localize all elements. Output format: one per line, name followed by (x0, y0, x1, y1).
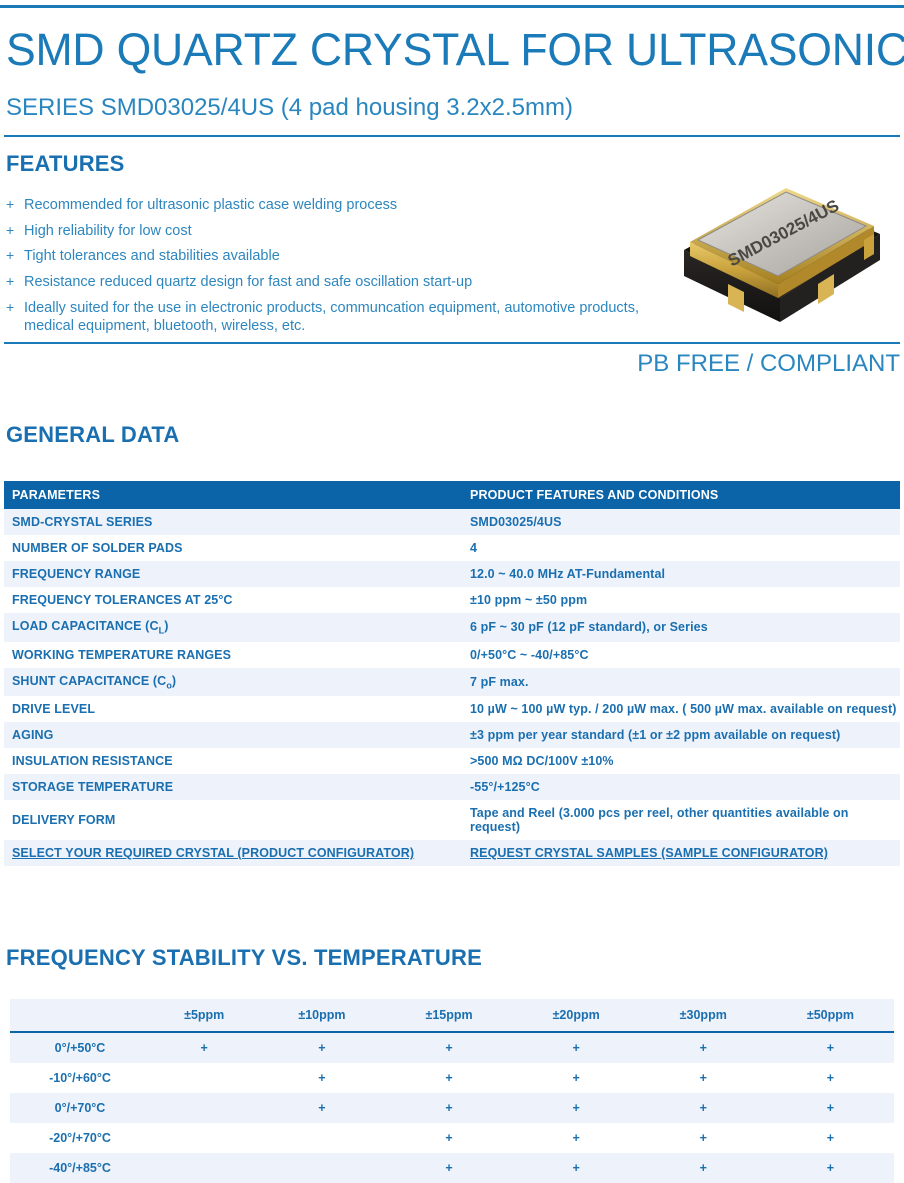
temperature-range-label: -40°/+85°C (10, 1153, 150, 1183)
stability-corner-cell (10, 999, 150, 1032)
stability-header-row: ±5ppm±10ppm±15ppm±20ppm±30ppm±50ppm (10, 999, 894, 1032)
parameter-value: 10 µW ~ 100 µW typ. / 200 µW max. ( 500 … (462, 696, 900, 722)
parameter-name: SMD-CRYSTAL SERIES (4, 509, 462, 535)
parameter-name: DELIVERY FORM (4, 800, 462, 840)
availability-mark: + (767, 1153, 894, 1183)
parameter-name: STORAGE TEMPERATURE (4, 774, 462, 800)
feature-item: +Resistance reduced quartz design for fa… (6, 273, 686, 291)
page-subtitle: SERIES SMD03025/4US (4 pad housing 3.2x2… (6, 96, 573, 120)
availability-mark: + (150, 1032, 258, 1063)
availability-empty (150, 1093, 258, 1123)
parameter-name: DRIVE LEVEL (4, 696, 462, 722)
subscript: o (166, 680, 172, 690)
availability-mark: + (640, 1093, 767, 1123)
plus-icon: + (6, 299, 24, 317)
availability-mark: + (513, 1153, 640, 1183)
parameter-value: ±10 ppm ~ ±50 ppm (462, 587, 900, 613)
stability-column-header: ±15ppm (385, 999, 512, 1032)
availability-mark: + (258, 1063, 385, 1093)
availability-mark: + (385, 1153, 512, 1183)
table-row: INSULATION RESISTANCE>500 MΩ DC/100V ±10… (4, 748, 900, 774)
stability-heading: FREQUENCY STABILITY VS. TEMPERATURE (6, 947, 482, 969)
features-heading: FEATURES (6, 153, 125, 175)
temperature-range-label: -10°/+60°C (10, 1063, 150, 1093)
datasheet-page: SMD QUARTZ CRYSTAL FOR ULTRASONIC SERIES… (0, 0, 904, 1178)
availability-mark: + (513, 1093, 640, 1123)
general-data-heading: GENERAL DATA (6, 424, 180, 446)
stability-column-header: ±5ppm (150, 999, 258, 1032)
availability-mark: + (767, 1093, 894, 1123)
parameter-name: FREQUENCY TOLERANCES AT 25°C (4, 587, 462, 613)
plus-icon: + (6, 222, 24, 240)
stability-column-header: ±10ppm (258, 999, 385, 1032)
parameter-value: Tape and Reel (3.000 pcs per reel, other… (462, 800, 900, 840)
availability-empty (150, 1063, 258, 1093)
feature-item-label: Recommended for ultrasonic plastic case … (24, 196, 686, 214)
availability-mark: + (258, 1032, 385, 1063)
divider-below-features (4, 342, 900, 344)
availability-mark: + (385, 1063, 512, 1093)
feature-item: +Recommended for ultrasonic plastic case… (6, 196, 686, 214)
parameter-name: LOAD CAPACITANCE (CL) (4, 613, 462, 642)
feature-item-label: Tight tolerances and stabilities availab… (24, 247, 686, 265)
parameter-value: 7 pF max. (462, 668, 900, 697)
temperature-range-label: 0°/+70°C (10, 1093, 150, 1123)
feature-item-label: Ideally suited for the use in electronic… (24, 299, 686, 335)
feature-item-label: Resistance reduced quartz design for fas… (24, 273, 686, 291)
feature-item: +Ideally suited for the use in electroni… (6, 299, 686, 335)
general-data-table-head: PARAMETERS PRODUCT FEATURES AND CONDITIO… (4, 481, 900, 509)
sample-configurator-link[interactable]: REQUEST CRYSTAL SAMPLES (SAMPLE CONFIGUR… (462, 840, 900, 866)
stability-table: ±5ppm±10ppm±15ppm±20ppm±30ppm±50ppm 0°/+… (10, 999, 894, 1183)
table-header-row: PARAMETERS PRODUCT FEATURES AND CONDITIO… (4, 481, 900, 509)
table-row: SHUNT CAPACITANCE (Co)7 pF max. (4, 668, 900, 697)
parameter-value: ±3 ppm per year standard (±1 or ±2 ppm a… (462, 722, 900, 748)
compliance-label: PB FREE / COMPLIANT (637, 352, 900, 376)
plus-icon: + (6, 247, 24, 265)
table-row: -10°/+60°C+++++ (10, 1063, 894, 1093)
table-row: -40°/+85°C++++ (10, 1153, 894, 1183)
availability-mark: + (513, 1063, 640, 1093)
column-header-product-features: PRODUCT FEATURES AND CONDITIONS (462, 481, 900, 509)
availability-mark: + (258, 1093, 385, 1123)
parameter-name: NUMBER OF SOLDER PADS (4, 535, 462, 561)
plus-icon: + (6, 196, 24, 214)
temperature-range-label: 0°/+50°C (10, 1032, 150, 1063)
availability-mark: + (767, 1032, 894, 1063)
features-list: +Recommended for ultrasonic plastic case… (6, 196, 686, 342)
table-row: FREQUENCY RANGE12.0 ~ 40.0 MHz AT-Fundam… (4, 561, 900, 587)
availability-mark: + (640, 1123, 767, 1153)
availability-mark: + (640, 1032, 767, 1063)
availability-empty (150, 1123, 258, 1153)
table-row: LOAD CAPACITANCE (CL)6 pF ~ 30 pF (12 pF… (4, 613, 900, 642)
table-row: SELECT YOUR REQUIRED CRYSTAL (PRODUCT CO… (4, 840, 900, 866)
page-top-rule (0, 5, 904, 8)
availability-mark: + (513, 1123, 640, 1153)
general-data-table: PARAMETERS PRODUCT FEATURES AND CONDITIO… (4, 481, 900, 866)
table-row: SMD-CRYSTAL SERIESSMD03025/4US (4, 509, 900, 535)
availability-mark: + (640, 1063, 767, 1093)
page-title: SMD QUARTZ CRYSTAL FOR ULTRASONIC (6, 27, 904, 72)
parameter-value: 0/+50°C ~ -40/+85°C (462, 642, 900, 668)
general-data-table-body: SMD-CRYSTAL SERIESSMD03025/4USNUMBER OF … (4, 509, 900, 866)
parameter-name: FREQUENCY RANGE (4, 561, 462, 587)
subscript: L (159, 626, 165, 636)
feature-item: +Tight tolerances and stabilities availa… (6, 247, 686, 265)
availability-empty (258, 1123, 385, 1153)
table-row: FREQUENCY TOLERANCES AT 25°C±10 ppm ~ ±5… (4, 587, 900, 613)
parameter-name: WORKING TEMPERATURE RANGES (4, 642, 462, 668)
feature-item-label: High reliability for low cost (24, 222, 686, 240)
stability-column-header: ±50ppm (767, 999, 894, 1032)
table-row: 0°/+70°C+++++ (10, 1093, 894, 1123)
feature-item: +High reliability for low cost (6, 222, 686, 240)
parameter-value: -55°/+125°C (462, 774, 900, 800)
product-image: SMD03025/4US (668, 176, 896, 326)
divider-below-subtitle (4, 135, 900, 137)
parameter-value: 4 (462, 535, 900, 561)
stability-table-body: 0°/+50°C++++++-10°/+60°C+++++0°/+70°C+++… (10, 1032, 894, 1183)
product-configurator-link[interactable]: SELECT YOUR REQUIRED CRYSTAL (PRODUCT CO… (4, 840, 462, 866)
column-header-parameters: PARAMETERS (4, 481, 462, 509)
stability-column-header: ±20ppm (513, 999, 640, 1032)
stability-table-head: ±5ppm±10ppm±15ppm±20ppm±30ppm±50ppm (10, 999, 894, 1032)
table-row: STORAGE TEMPERATURE-55°/+125°C (4, 774, 900, 800)
availability-empty (150, 1153, 258, 1183)
parameter-name: INSULATION RESISTANCE (4, 748, 462, 774)
table-row: 0°/+50°C++++++ (10, 1032, 894, 1063)
table-row: DELIVERY FORMTape and Reel (3.000 pcs pe… (4, 800, 900, 840)
table-row: AGING±3 ppm per year standard (±1 or ±2 … (4, 722, 900, 748)
parameter-name: AGING (4, 722, 462, 748)
table-row: NUMBER OF SOLDER PADS4 (4, 535, 900, 561)
availability-mark: + (767, 1063, 894, 1093)
table-row: -20°/+70°C++++ (10, 1123, 894, 1153)
availability-empty (258, 1153, 385, 1183)
table-row: DRIVE LEVEL10 µW ~ 100 µW typ. / 200 µW … (4, 696, 900, 722)
availability-mark: + (385, 1032, 512, 1063)
table-row: WORKING TEMPERATURE RANGES0/+50°C ~ -40/… (4, 642, 900, 668)
parameter-value: 12.0 ~ 40.0 MHz AT-Fundamental (462, 561, 900, 587)
temperature-range-label: -20°/+70°C (10, 1123, 150, 1153)
availability-mark: + (513, 1032, 640, 1063)
parameter-name: SHUNT CAPACITANCE (Co) (4, 668, 462, 697)
availability-mark: + (640, 1153, 767, 1183)
plus-icon: + (6, 273, 24, 291)
parameter-value: 6 pF ~ 30 pF (12 pF standard), or Series (462, 613, 900, 642)
parameter-value: SMD03025/4US (462, 509, 900, 535)
availability-mark: + (385, 1093, 512, 1123)
parameter-value: >500 MΩ DC/100V ±10% (462, 748, 900, 774)
availability-mark: + (385, 1123, 512, 1153)
availability-mark: + (767, 1123, 894, 1153)
stability-column-header: ±30ppm (640, 999, 767, 1032)
